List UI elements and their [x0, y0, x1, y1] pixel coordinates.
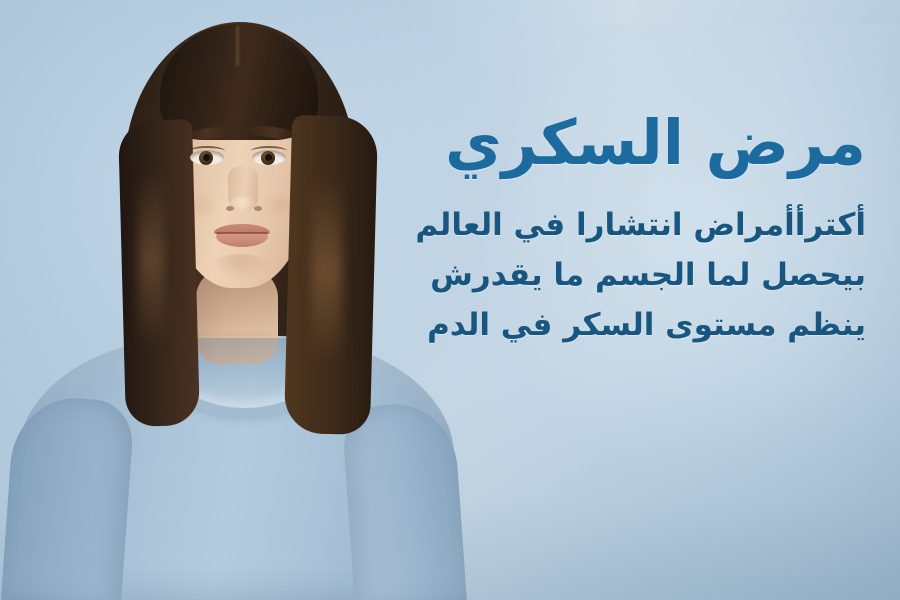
nostril-left [226, 206, 234, 211]
hair-sheen-right [312, 176, 342, 366]
body-line-3: ينظم مستوى السكر في الدم [436, 300, 866, 350]
sweater-sleeve-left [1, 394, 135, 600]
mouth-line [216, 232, 268, 234]
eyelid-right [251, 146, 287, 156]
hair-part-line [236, 26, 239, 66]
body-line-2: بيحصل لما الجسم ما يقدرش [436, 250, 866, 300]
text-block: مرض السكري أكترأأمراض انتشارا في العالم … [436, 112, 866, 351]
poster-headline: مرض السكري [436, 112, 866, 174]
chin-shadow [210, 254, 272, 280]
body-line-1: أكترأأمراض انتشارا في العالم [436, 200, 866, 250]
nostril-right [254, 206, 262, 211]
nose-tip-highlight [230, 196, 256, 212]
hair-sheen-left [138, 170, 164, 350]
poster-body: أكترأأمراض انتشارا في العالم بيحصل لما ا… [436, 200, 866, 351]
poster-canvas: مرض السكري أكترأأمراض انتشارا في العالم … [0, 0, 900, 600]
eyelid-left [189, 146, 225, 156]
subject-portrait [0, 0, 470, 600]
